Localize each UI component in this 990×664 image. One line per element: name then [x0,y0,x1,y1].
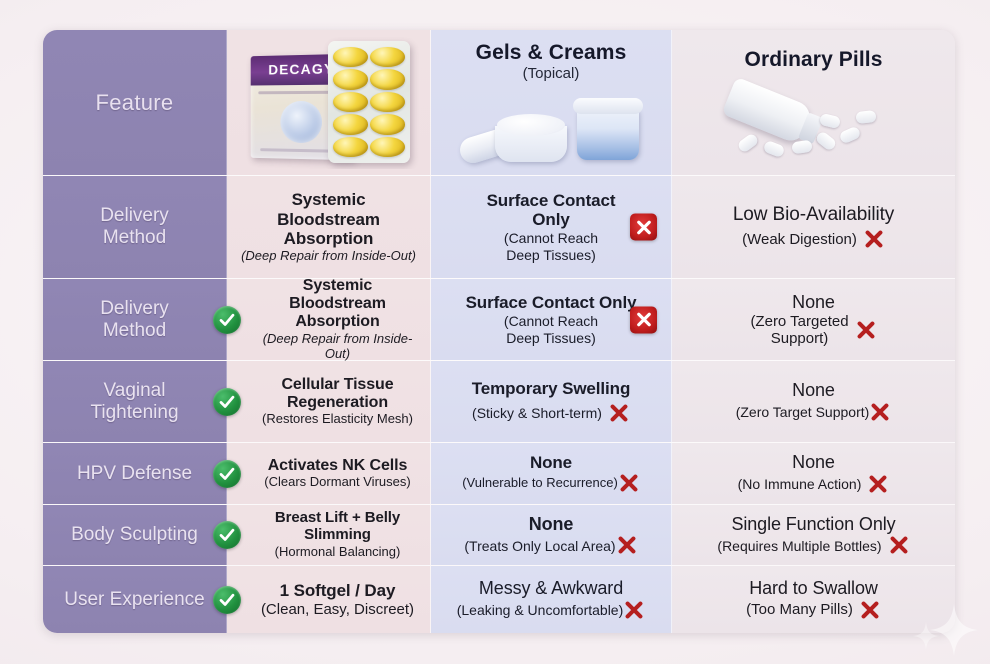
feature-label: VaginalTightening [90,380,178,424]
row-pills-cell: Low Bio-Availability (Weak Digestion) [672,176,955,278]
pill-bottle [722,77,815,146]
value-sub-with-mark: (No Immune Action) [680,473,947,495]
value-sub-with-mark: (Zero Target Support) [680,401,947,423]
row-decagy-cell: 1 Softgel / Day (Clean, Easy, Discreet) [227,566,431,633]
pill [762,140,785,159]
row-gels-cell: None (Treats Only Local Area) [431,505,672,565]
row-pills-cell: None (Zero TargetedSupport) [672,279,955,360]
cross-icon [867,473,889,495]
row-gels-cell: Surface Contact Only (Cannot ReachDeep T… [431,279,672,360]
softgel-capsule [333,92,368,112]
blue-cream-jar [577,108,639,160]
row-gels-cell: None (Vulnerable to Recurrence) [431,443,672,504]
gels-product-image [439,82,663,164]
check-icon-badge [213,388,241,416]
cross-icon [855,319,877,341]
decagy-dna-emblem-icon [280,101,322,143]
pill [736,132,759,153]
softgel-capsule [370,137,405,157]
value-main: 1 Softgel / Day [280,581,396,600]
check-icon [213,586,241,614]
cross-icon [616,534,638,556]
value-main: None [792,380,835,400]
row-pills-cell: None (No Immune Action) [672,443,955,504]
softgel-capsule [333,47,368,67]
value-sub-with-mark: (Zero TargetedSupport) [680,312,947,348]
cream-swirl [497,114,565,136]
row-feature-label-cell: User Experience [43,566,227,633]
value-sub: (Sticky & Short-term) [472,405,602,421]
value-sub: (Zero TargetedSupport) [750,313,848,348]
cross-icon [859,599,881,621]
value-sub: (Weak Digestion) [742,231,857,248]
cross-icon-badge [630,214,657,241]
row-feature-label-cell: Body Sculpting [43,505,227,565]
cross-icon [608,402,630,424]
cross-icon [630,306,657,333]
value-main: Surface ContactOnly [487,191,616,229]
value-main: Temporary Swelling [472,379,630,398]
softgel-capsule [333,69,368,89]
check-icon [213,521,241,549]
value-sub: (Vulnerable to Recurrence) [462,476,618,491]
row-feature-label-cell: DeliveryMethod [43,279,227,360]
gels-column-title: Gels & Creams [476,41,627,64]
value-main: Systemic BloodstreamAbsorption [253,277,422,331]
value-sub-with-mark: (Too Many Pills) [680,599,947,621]
row-feature-label-cell: VaginalTightening [43,361,227,442]
value-sub: (Zero Target Support) [736,404,870,420]
header-cell-ordinary-pills: Ordinary Pills [672,30,955,175]
row-pills-cell: None (Zero Target Support) [672,361,955,442]
value-sub-with-mark: (Sticky & Short-term) [439,402,663,424]
row-gels-cell: Surface ContactOnly (Cannot ReachDeep Ti… [431,176,672,278]
value-main: None [529,514,574,534]
header-cell-feature: Feature [43,30,227,175]
cross-icon [888,534,910,556]
value-sub: (Deep Repair from Inside-Out) [241,249,416,264]
value-sub: (Cannot ReachDeep Tissues) [504,313,598,345]
value-sub: (Hormonal Balancing) [275,545,401,560]
value-main: Surface Contact Only [466,293,637,312]
product-comparison-table: Feature DECAGY [43,30,955,633]
row-pills-cell: Single Function Only (Requires Multiple … [672,505,955,565]
value-sub-with-mark: (Leaking & Uncomfortable) [439,599,663,621]
row-gels-cell: Messy & Awkward (Leaking & Uncomfortable… [431,566,672,633]
row-feature-label-cell: DeliveryMethod [43,176,227,278]
value-main: SystemicBloodstreamAbsorption [277,190,380,247]
value-sub: (Cannot ReachDeep Tissues) [504,230,598,262]
feature-label: User Experience [64,589,204,611]
header-cell-gels-creams: Gels & Creams (Topical) [431,30,672,175]
check-icon-badge [213,521,241,549]
check-icon-badge [213,306,241,334]
row-decagy-cell: Systemic BloodstreamAbsorption (Deep Rep… [227,279,431,360]
softgel-capsule [370,114,405,134]
row-decagy-cell: Activates NK Cells (Clears Dormant Virus… [227,443,431,504]
softgel-blister-pack [328,41,410,163]
value-sub: (Deep Repair from Inside-Out) [253,332,422,362]
value-sub: (Requires Multiple Bottles) [717,538,881,554]
cross-icon [863,228,885,250]
cross-icon [630,214,657,241]
pill [814,130,837,152]
value-main: Activates NK Cells [268,457,408,475]
value-sub: (Restores Elasticity Mesh) [262,412,413,427]
value-sub: (Leaking & Uncomfortable) [457,602,624,618]
table-row: User Experience 1 Softgel / Day (Clean, … [43,566,955,633]
value-main: None [792,292,835,312]
row-feature-label-cell: HPV Defense [43,443,227,504]
feature-label: DeliveryMethod [100,205,169,249]
value-sub: (Clears Dormant Viruses) [264,475,410,490]
value-main: Single Function Only [731,514,895,534]
feature-label: HPV Defense [77,463,192,485]
value-main: Hard to Swallow [749,578,878,598]
table-header-row: Feature DECAGY [43,30,955,176]
value-sub: (Too Many Pills) [746,601,853,618]
pill [855,110,876,124]
gels-column-subtitle: (Topical) [523,65,580,82]
table-row: Body Sculpting Breast Lift + Belly Slimm… [43,505,955,566]
value-main: Cellular TissueRegeneration [281,376,393,412]
row-decagy-cell: Breast Lift + Belly Slimming (Hormonal B… [227,505,431,565]
cross-icon [623,599,645,621]
check-icon [213,388,241,416]
row-decagy-cell: Cellular TissueRegeneration (Restores El… [227,361,431,442]
row-pills-cell: Hard to Swallow (Too Many Pills) [672,566,955,633]
check-icon-badge [213,586,241,614]
row-decagy-cell: SystemicBloodstreamAbsorption (Deep Repa… [227,176,431,278]
value-sub: (Clean, Easy, Discreet) [261,601,414,618]
feature-label: DeliveryMethod [100,298,169,342]
pill [819,113,841,129]
softgel-capsule [333,114,368,134]
pill [791,140,812,155]
softgel-capsule [370,47,405,67]
table-row: DeliveryMethod Systemic BloodstreamAbsor… [43,279,955,361]
cross-icon-badge [630,306,657,333]
value-sub-with-mark: (Vulnerable to Recurrence) [439,472,663,494]
blue-jar-lid [573,98,643,114]
value-sub-with-mark: (Requires Multiple Bottles) [680,534,947,556]
cross-icon [869,401,891,423]
table-row: VaginalTightening Cellular TissueRegener… [43,361,955,443]
softgel-capsule [370,69,405,89]
header-cell-decagy: DECAGY [227,30,431,175]
value-sub-with-mark: (Weak Digestion) [680,228,947,250]
feature-label: Body Sculpting [71,524,198,546]
softgel-capsule [333,137,368,157]
value-sub: (Treats Only Local Area) [464,538,615,554]
table-row: DeliveryMethod SystemicBloodstreamAbsorp… [43,176,955,279]
check-icon [213,306,241,334]
pill [838,125,861,144]
value-main: Messy & Awkward [479,578,623,598]
value-main: None [530,453,572,472]
cross-icon [618,472,640,494]
check-icon [213,460,241,488]
feature-column-title: Feature [96,90,174,116]
value-sub: (No Immune Action) [738,476,862,492]
value-main: None [792,452,835,472]
softgel-capsule [370,92,405,112]
row-gels-cell: Temporary Swelling (Sticky & Short-term) [431,361,672,442]
value-sub-with-mark: (Treats Only Local Area) [439,534,663,556]
pills-column-title: Ordinary Pills [745,48,883,71]
check-icon-badge [213,460,241,488]
decagy-product-image: DECAGY [235,36,422,169]
value-main: Low Bio-Availability [733,204,894,225]
pills-product-image [680,71,947,157]
table-row: HPV Defense Activates NK Cells (Clears D… [43,443,955,505]
value-main: Breast Lift + Belly Slimming [253,510,422,544]
